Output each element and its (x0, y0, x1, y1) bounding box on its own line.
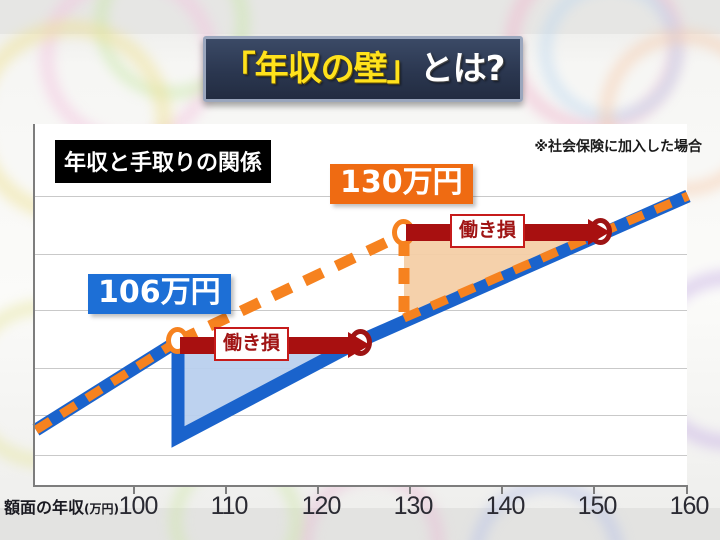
x-axis-title-unit: (万円) (84, 502, 119, 516)
chart-series-layer (0, 0, 720, 540)
loss-annotation-1: 働き損 (180, 332, 370, 358)
x-tick-label: 150 (578, 492, 617, 521)
value-badge-106: 106万円 (88, 274, 231, 314)
x-tick-label: 120 (302, 492, 341, 521)
x-tick-label: 110 (211, 492, 248, 521)
chart-subtitle: 年収と手取りの関係 (55, 140, 271, 183)
loss-label-1: 働き損 (214, 327, 289, 361)
x-axis-line (33, 485, 688, 487)
x-tick-label: 100 (119, 492, 158, 521)
x-tick-label: 140 (486, 492, 525, 521)
x-axis-title: 額面の年収(万円) (4, 494, 119, 518)
x-tick-label: 160 (670, 492, 709, 521)
value-badge-130: 130万円 (330, 164, 473, 204)
x-axis-title-text: 額面の年収 (4, 498, 84, 517)
chart-note: ※社会保険に加入した場合 (534, 136, 702, 156)
x-tick-label: 130 (394, 492, 433, 521)
loss-label-2: 働き損 (450, 214, 525, 248)
loss-annotation-2: 働き損 (406, 219, 611, 245)
y-axis-line (33, 124, 35, 487)
arrow-head-icon (348, 332, 370, 358)
arrow-head-icon (588, 219, 610, 245)
